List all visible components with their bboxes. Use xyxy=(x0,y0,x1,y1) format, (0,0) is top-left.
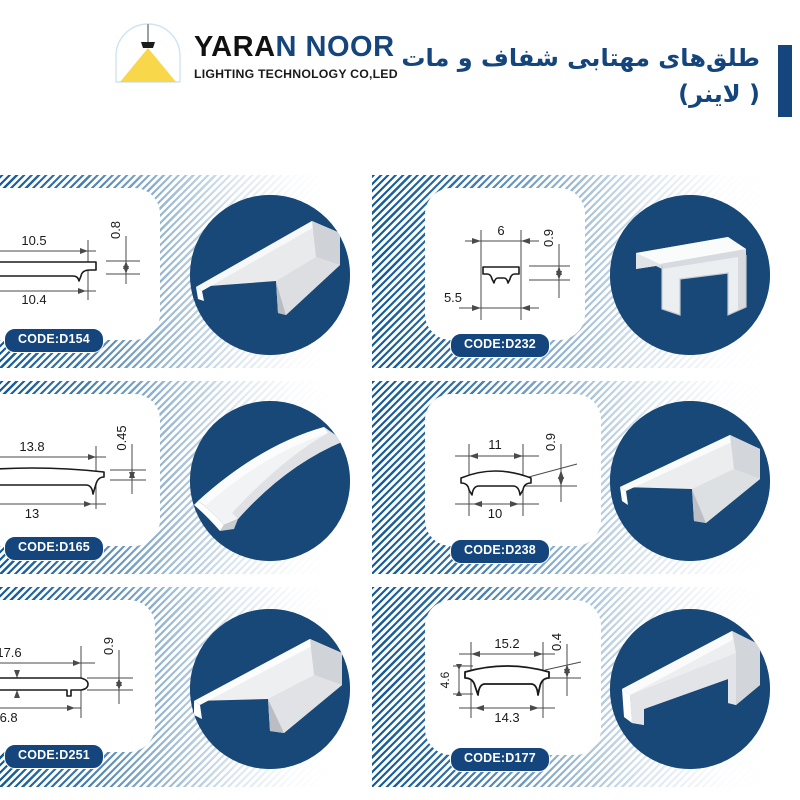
brand-name: YARAN NOOR xyxy=(194,33,398,62)
code-badge-d154: CODE:D154 xyxy=(4,328,104,353)
dim-bottom-width: 14.3 xyxy=(494,710,519,725)
product-photo-circle-d154 xyxy=(190,195,350,355)
pendant-lamp-icon xyxy=(112,16,184,92)
dim-height: 0.9 xyxy=(543,433,558,451)
dim-bottom-width: 10.4 xyxy=(21,292,46,307)
dim-height: 0.9 xyxy=(541,229,556,247)
dim-depth: 4.6 xyxy=(438,671,452,688)
technical-drawing-card-d238: 11 10 0.9 xyxy=(425,394,601,546)
dim-top-width: 15.2 xyxy=(494,636,519,651)
technical-drawing-card-d251: 17.6 16.8 0.9 xyxy=(0,600,155,752)
dim-height: 0.8 xyxy=(108,221,123,239)
product-photo-circle-d165 xyxy=(190,401,350,561)
product-grid: 10.5 10.4 0.8 CODE:D154 xyxy=(0,175,800,790)
code-badge-d232: CODE:D232 xyxy=(450,333,550,358)
row-gutter-2 xyxy=(0,574,800,587)
title-accent-bar xyxy=(778,45,792,117)
page-title-line-2: ( لاینر) xyxy=(401,76,760,112)
technical-drawing-card-d165: 13.8 13 0.45 xyxy=(0,394,160,546)
dim-bottom-width: 16.8 xyxy=(0,710,18,725)
brand-logo: YARAN NOOR LIGHTING TECHNOLOGY CO,LED xyxy=(112,16,398,92)
dim-top-width: 11 xyxy=(488,437,502,452)
product-photo-circle-d232 xyxy=(610,195,770,355)
product-photo-circle-d251 xyxy=(190,609,350,769)
brand-tagline: LIGHTING TECHNOLOGY CO,LED xyxy=(194,67,398,81)
dim-bottom-width: 13 xyxy=(25,506,39,521)
code-badge-d251: CODE:D251 xyxy=(4,744,104,769)
dim-bottom-width: 10 xyxy=(488,506,502,521)
dim-height: 0.4 xyxy=(549,633,564,651)
code-badge-d238: CODE:D238 xyxy=(450,539,550,564)
dim-top-width: 10.5 xyxy=(21,233,46,248)
page-title: طلق‌های مهتابی شفاف و مات ( لاینر) xyxy=(401,40,760,112)
dim-top-width: 13.8 xyxy=(19,439,44,454)
row-gutter-1 xyxy=(0,368,800,381)
code-badge-d165: CODE:D165 xyxy=(4,536,104,561)
technical-drawing-card-d232: 6 5.5 0.9 xyxy=(425,188,585,340)
dim-height: 0.9 xyxy=(101,637,116,655)
technical-drawing-card-d177: 15.2 14.3 0.4 4.6 xyxy=(425,600,601,755)
column-gutter xyxy=(355,175,372,790)
product-photo-circle-d177 xyxy=(610,609,770,769)
dim-top-width: 6 xyxy=(497,223,504,238)
code-badge-d177: CODE:D177 xyxy=(450,747,550,772)
dim-height: 0.45 xyxy=(114,425,129,450)
dim-bottom-width: 5.5 xyxy=(444,290,462,305)
page-header: YARAN NOOR LIGHTING TECHNOLOGY CO,LED طل… xyxy=(0,0,800,160)
product-photo-circle-d238 xyxy=(610,401,770,561)
technical-drawing-card-d154: 10.5 10.4 0.8 xyxy=(0,188,160,340)
page-title-line-1: طلق‌های مهتابی شفاف و مات xyxy=(401,40,760,76)
brand-text: YARAN NOOR LIGHTING TECHNOLOGY CO,LED xyxy=(194,27,398,81)
dim-top-width: 17.6 xyxy=(0,645,22,660)
